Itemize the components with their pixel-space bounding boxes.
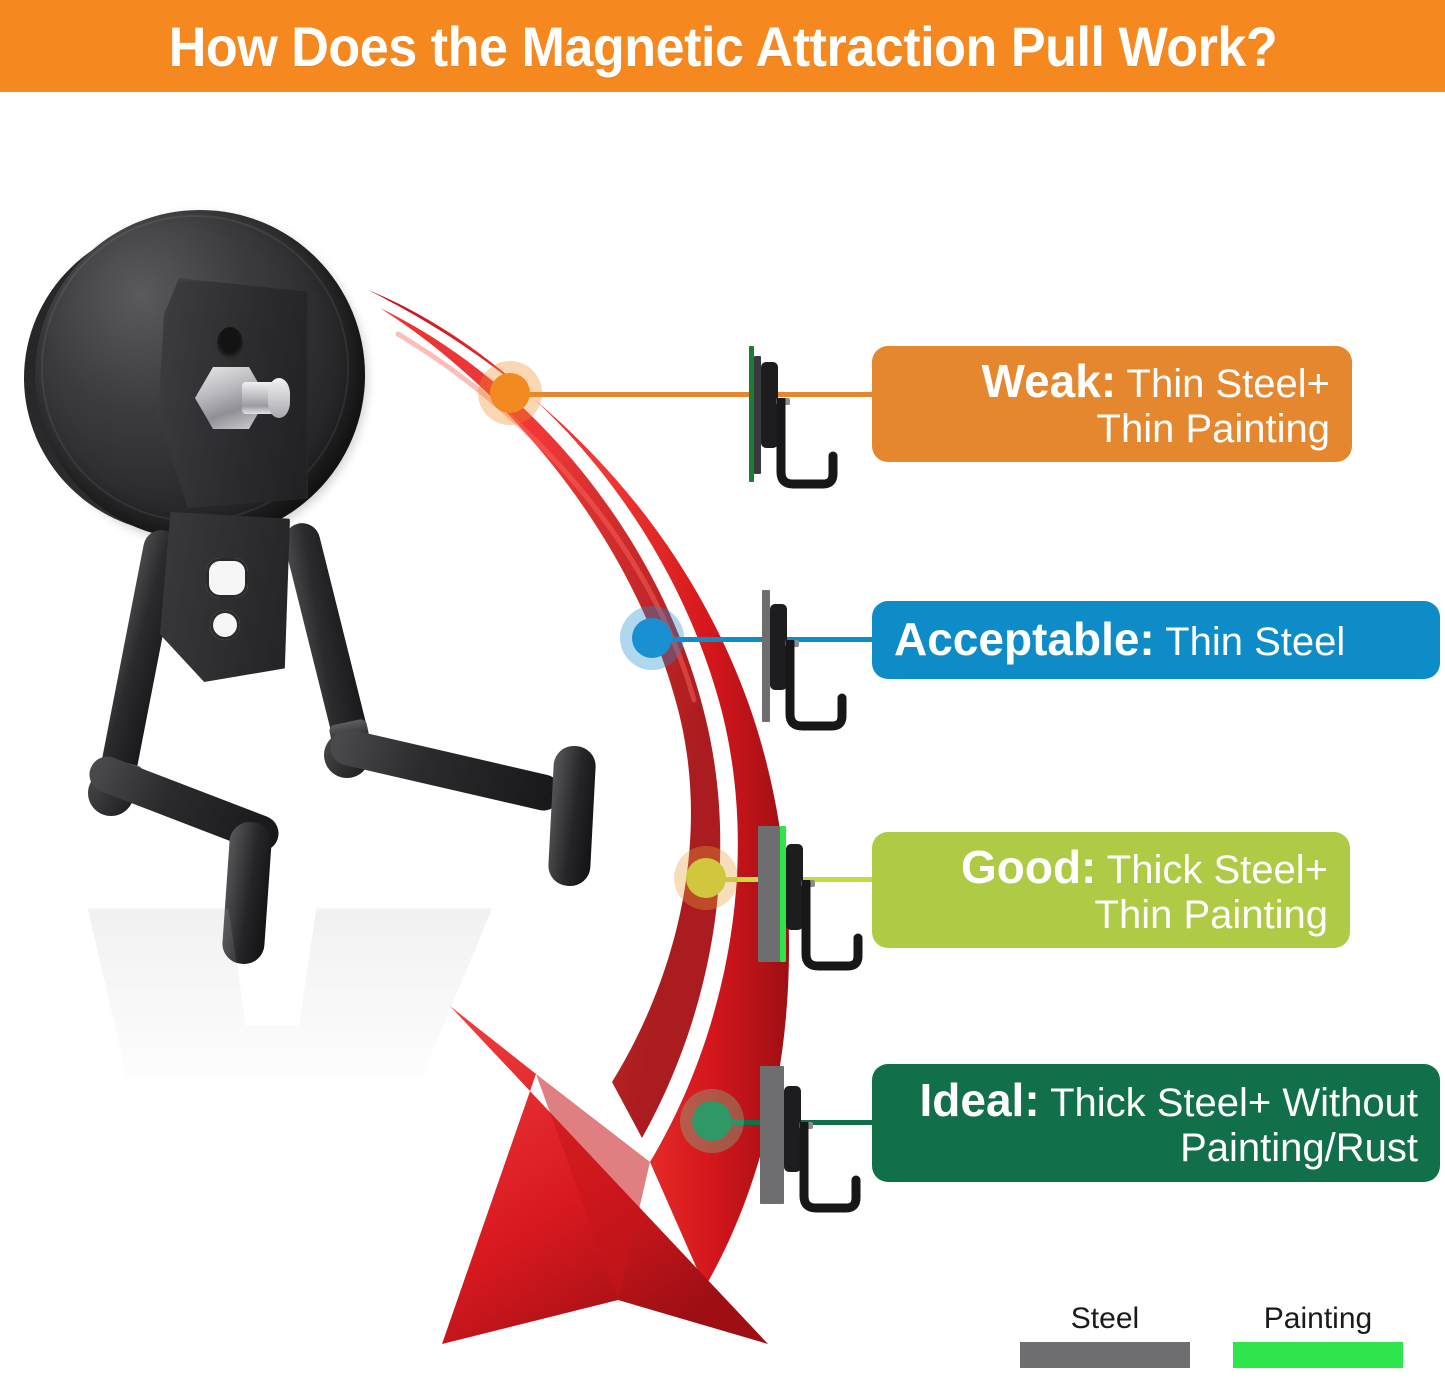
label-rest-weak: Thin Steel+: [1116, 362, 1330, 406]
steel-layer-weak: [754, 356, 761, 474]
legend-item-steel: Steel: [1015, 1302, 1195, 1368]
wall-section-weak: [735, 342, 845, 492]
label-rest-good: Thick Steel+: [1096, 848, 1328, 892]
legend-swatch-steel: [1020, 1342, 1190, 1368]
steel-layer-good: [758, 826, 780, 962]
label-rest-ideal: Thick Steel+ Without: [1040, 1081, 1418, 1125]
bolt-cap: [268, 378, 290, 418]
legend-label-painting: Painting: [1228, 1302, 1408, 1336]
label-line2-weak: Thin Painting: [1097, 407, 1330, 451]
mini-hook-ideal: [796, 1122, 868, 1218]
label-lead-good: Good:: [961, 841, 1096, 893]
legend-item-painting: Painting: [1228, 1302, 1408, 1368]
bracket-slot-lower: [210, 610, 240, 640]
label-rest-acceptable: Thin Steel: [1155, 620, 1346, 664]
legend-label-steel: Steel: [1015, 1302, 1195, 1336]
label-line2-good: Thin Painting: [1095, 893, 1328, 937]
label-lead-weak: Weak:: [981, 355, 1116, 407]
label-line2-ideal: Painting/Rust: [1180, 1126, 1418, 1170]
label-text-ideal: Ideal: Thick Steel+ Without Painting/Rus…: [894, 1075, 1418, 1171]
wall-section-acceptable: [748, 584, 858, 734]
plate-hole: [217, 327, 243, 359]
mini-hook-acceptable: [782, 640, 854, 736]
wall-section-good: [752, 822, 862, 972]
marker-dot-good-halo: [674, 846, 738, 910]
label-box-acceptable[interactable]: Acceptable: Thin Steel: [872, 601, 1440, 679]
marker-dot-acceptable: [632, 618, 672, 658]
marker-dot-weak: [490, 373, 530, 413]
steel-layer-ideal: [760, 1066, 784, 1204]
marker-dot-good: [686, 858, 726, 898]
marker-dot-weak-halo: [478, 361, 542, 425]
wall-section-ideal: [752, 1064, 862, 1214]
marker-dot-ideal: [692, 1101, 732, 1141]
label-lead-acceptable: Acceptable:: [894, 613, 1155, 665]
label-box-ideal[interactable]: Ideal: Thick Steel+ Without Painting/Rus…: [872, 1064, 1440, 1182]
marker-dot-ideal-halo: [680, 1089, 744, 1153]
label-text-weak: Weak: Thin Steel+ Thin Painting: [894, 356, 1330, 452]
mini-hook-weak: [773, 398, 845, 494]
steel-layer-acceptable: [762, 590, 770, 722]
marker-dot-acceptable-halo: [620, 606, 684, 670]
mini-hook-good: [798, 880, 870, 976]
label-text-good: Good: Thick Steel+ Thin Painting: [894, 842, 1328, 938]
bracket-slot-upper: [206, 558, 248, 598]
page-header-banner: How Does the Magnetic Attraction Pull Wo…: [0, 0, 1445, 92]
label-text-acceptable: Acceptable: Thin Steel: [894, 614, 1418, 666]
page-title: How Does the Magnetic Attraction Pull Wo…: [168, 14, 1277, 79]
label-box-good[interactable]: Good: Thick Steel+ Thin Painting: [872, 832, 1350, 948]
legend-swatch-painting: [1233, 1342, 1403, 1368]
label-lead-ideal: Ideal:: [920, 1074, 1040, 1126]
label-box-weak[interactable]: Weak: Thin Steel+ Thin Painting: [872, 346, 1352, 462]
diagram-stage: Weak: Thin Steel+ Thin Painting Acceptab…: [0, 92, 1445, 1390]
legend: Steel Painting: [1015, 1302, 1435, 1382]
